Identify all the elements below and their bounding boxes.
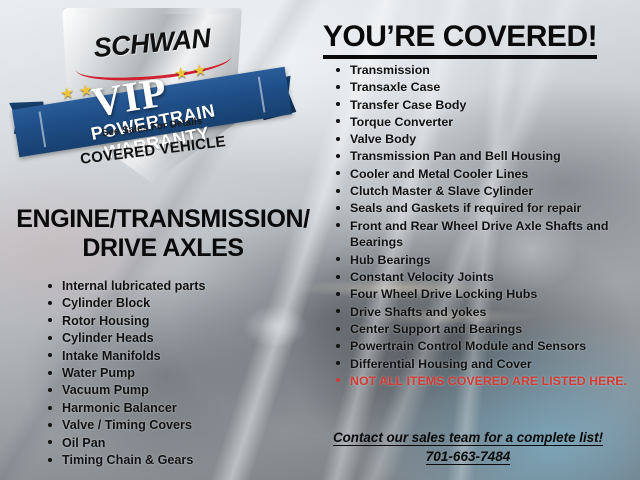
list-item: Center Support and Bearings	[336, 321, 632, 338]
list-item: Oil Pan	[48, 435, 298, 452]
list-item: Cooler and Metal Cooler Lines	[336, 166, 632, 183]
covered-items-right-list: TransmissionTransaxle CaseTransfer Case …	[336, 62, 632, 390]
list-item: Rotor Housing	[48, 313, 298, 330]
list-item: Valve Body	[336, 131, 632, 148]
left-heading-line-1: ENGINE/TRANSMISSION/	[8, 205, 318, 234]
list-item: Torque Converter	[336, 114, 632, 131]
list-item: Transaxle Case	[336, 79, 632, 96]
contact-phone-text: 701-663-7484	[426, 449, 511, 465]
list-item: Internal lubricated parts	[48, 278, 298, 295]
list-item: Powertrain Control Module and Sensors	[336, 338, 632, 355]
list-item: Harmonic Balancer	[48, 400, 298, 417]
list-item: Intake Manifolds	[48, 348, 298, 365]
right-heading-text: YOU’RE COVERED!	[323, 20, 597, 59]
list-item: Clutch Master & Slave Cylinder	[336, 183, 632, 200]
list-item: Constant Velocity Joints	[336, 269, 632, 286]
warranty-badge: SCHWAN ★ ★ ★ ★ VIP POWERTRAIN WARRANTY S…	[14, 4, 290, 190]
contact-phone[interactable]: 701-663-7484	[300, 449, 636, 465]
list-item: Water Pump	[48, 365, 298, 382]
list-item: Four Wheel Drive Locking Hubs	[336, 286, 632, 303]
list-item: Front and Rear Wheel Drive Axle Shafts a…	[336, 218, 632, 252]
list-item: Cylinder Block	[48, 295, 298, 312]
list-item: Drive Shafts and yokes	[336, 304, 632, 321]
contact-cta-text: Contact our sales team for a complete li…	[333, 430, 603, 446]
left-heading-line-2: DRIVE AXLES	[8, 234, 318, 263]
list-item: Seals and Gaskets if required for repair	[336, 200, 632, 217]
list-item: Transfer Case Body	[336, 97, 632, 114]
list-item: Differential Housing and Cover	[336, 356, 632, 373]
list-item: Cylinder Heads	[48, 330, 298, 347]
list-item: Vacuum Pump	[48, 382, 298, 399]
right-column-heading: YOU’RE COVERED!	[310, 20, 610, 59]
list-item: Hub Bearings	[336, 252, 632, 269]
list-item-warning: NOT ALL ITEMS COVERED ARE LISTED HERE.	[336, 373, 632, 390]
list-item: Transmission	[336, 62, 632, 79]
list-item: Transmission Pan and Bell Housing	[336, 148, 632, 165]
contact-cta: Contact our sales team for a complete li…	[300, 430, 636, 446]
left-column-heading: ENGINE/TRANSMISSION/ DRIVE AXLES	[8, 205, 318, 263]
warranty-poster: SCHWAN ★ ★ ★ ★ VIP POWERTRAIN WARRANTY S…	[0, 0, 640, 480]
covered-items-left-list: Internal lubricated partsCylinder BlockR…	[48, 278, 298, 469]
list-item: Timing Chain & Gears	[48, 452, 298, 469]
list-item: Valve / Timing Covers	[48, 417, 298, 434]
